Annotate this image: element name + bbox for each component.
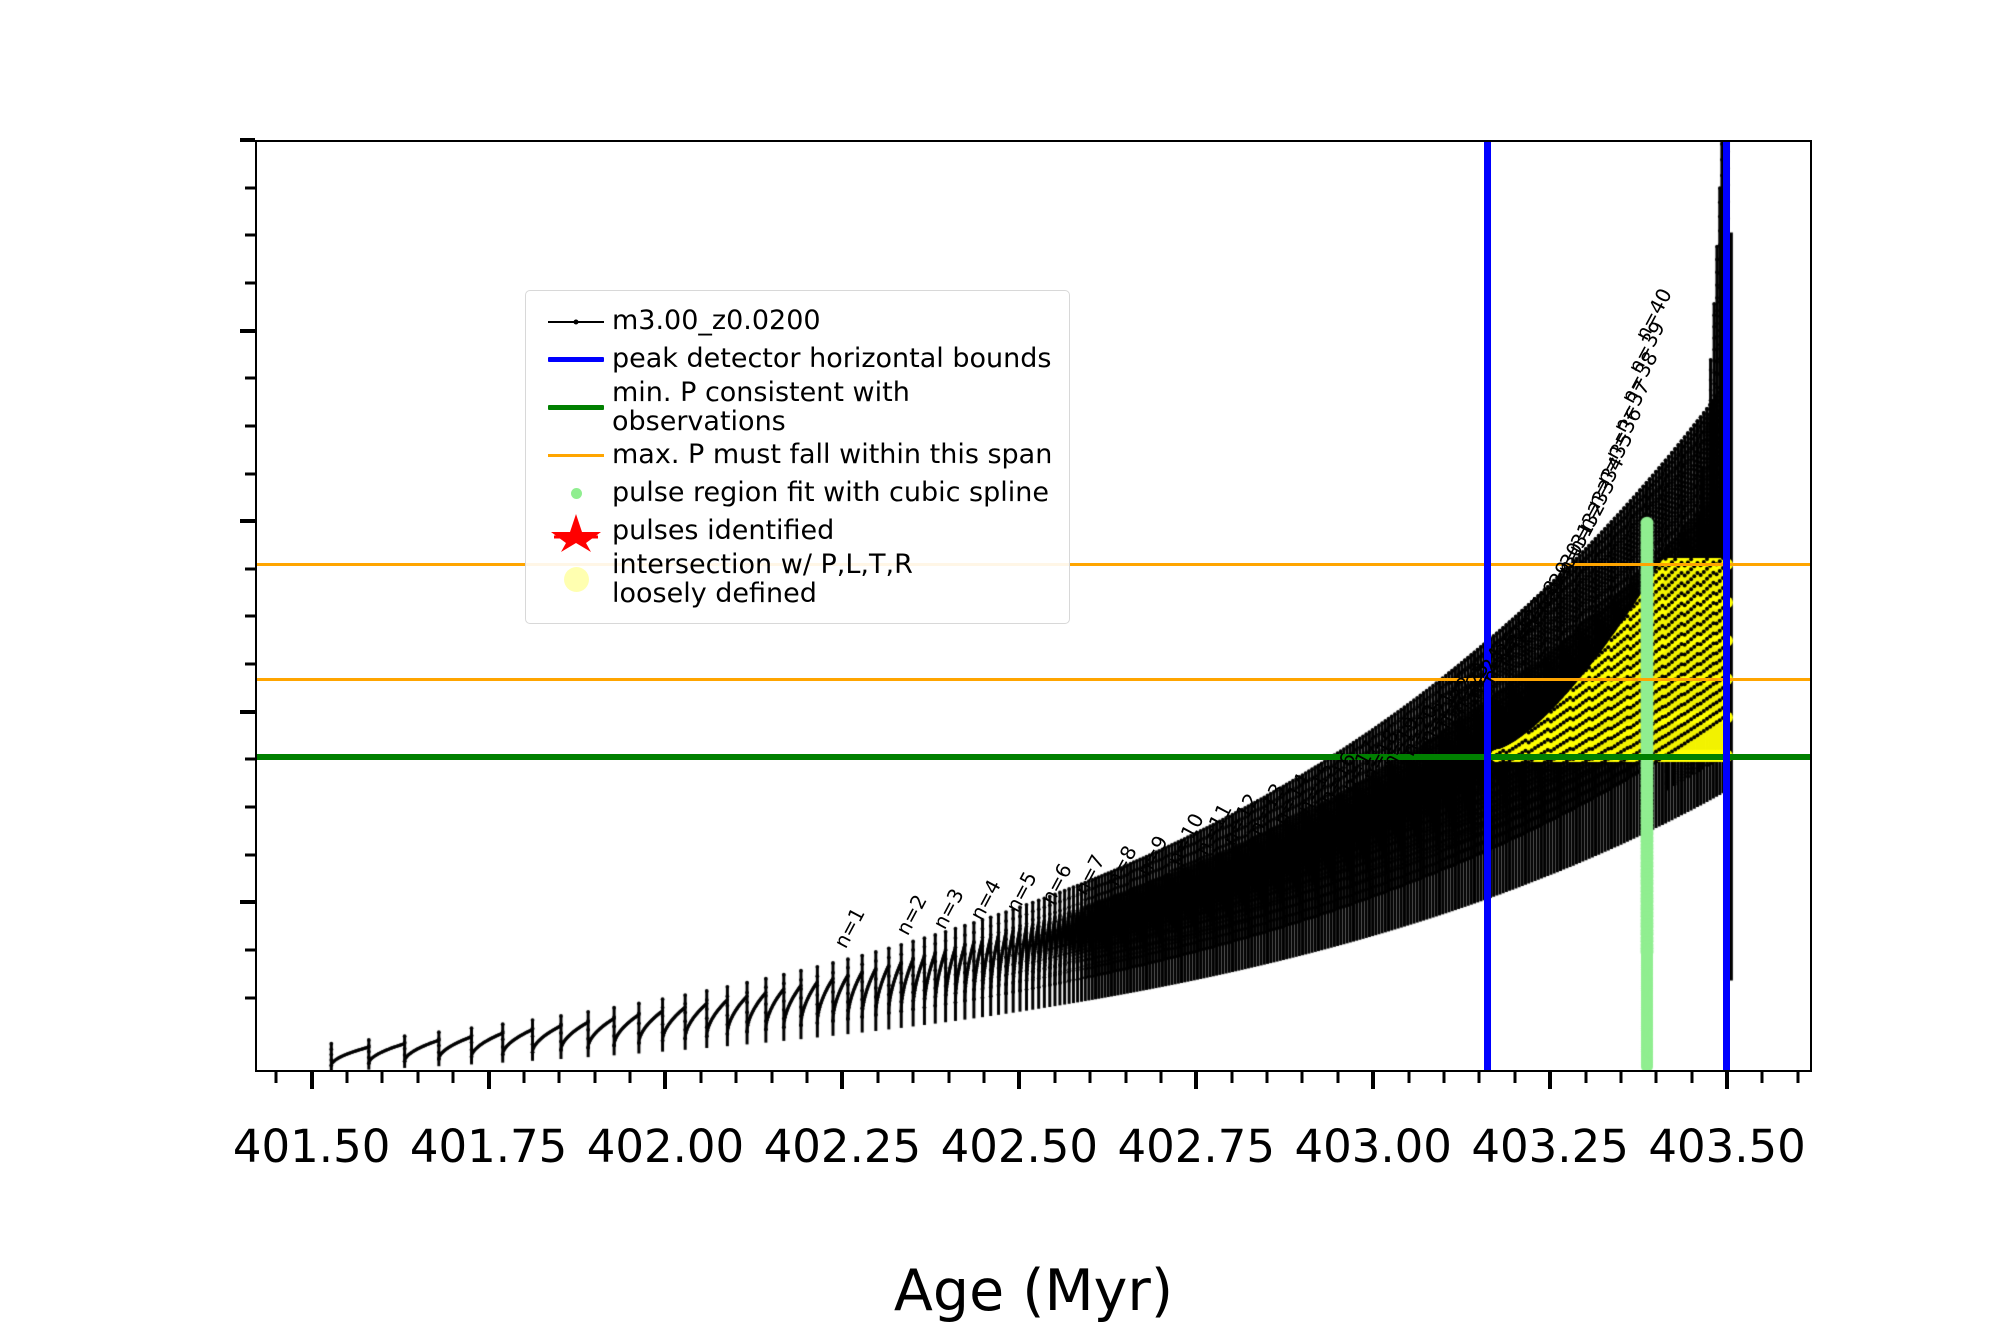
- legend-dot-swatch: [540, 475, 612, 512]
- x-tick-minor: [1159, 1072, 1162, 1083]
- y-tick-mark: [240, 519, 255, 523]
- legend-item-label: pulses identified: [612, 517, 834, 546]
- x-tick-mark: [1194, 1072, 1198, 1089]
- x-tick-minor: [1053, 1072, 1056, 1083]
- x-tick-mark: [487, 1072, 491, 1089]
- x-tick-minor: [912, 1072, 915, 1083]
- y-tick-minor: [245, 472, 255, 475]
- x-tick-minor: [1089, 1072, 1092, 1083]
- x-tick-minor: [593, 1072, 596, 1083]
- legend-line-swatch: [540, 341, 612, 378]
- x-tick-minor: [1266, 1072, 1269, 1083]
- x-tick-minor: [1478, 1072, 1481, 1083]
- x-axis: Age (Myr) 401.50401.75402.00402.25402.50…: [255, 1072, 1812, 1192]
- legend: m3.00_z0.0200peak detector horizontal bo…: [525, 290, 1070, 624]
- x-tick-minor: [699, 1072, 702, 1083]
- y-tick-minor: [245, 949, 255, 952]
- legend-item-label: pulse region fit with cubic spline: [612, 479, 1049, 508]
- legend-item-label: m3.00_z0.0200: [612, 307, 821, 336]
- y-tick-mark: [240, 138, 255, 142]
- x-tick-minor: [1584, 1072, 1587, 1083]
- peak-detector-bound-line: [1484, 142, 1491, 1070]
- x-tick-minor: [1655, 1072, 1658, 1083]
- legend-item[interactable]: min. P consistent with observations: [540, 379, 1055, 436]
- x-tick-minor: [1407, 1072, 1410, 1083]
- y-tick-minor: [245, 806, 255, 809]
- x-tick-label: 402.75: [1118, 1120, 1275, 1173]
- y-tick-minor: [245, 663, 255, 666]
- legend-line-marker-swatch: [540, 303, 612, 340]
- legend-item[interactable]: max. P must fall within this span: [540, 437, 1055, 474]
- x-tick-minor: [416, 1072, 419, 1083]
- y-tick-minor: [245, 234, 255, 237]
- y-tick-minor: [245, 281, 255, 284]
- x-tick-minor: [522, 1072, 525, 1083]
- x-tick-label: 401.75: [410, 1120, 567, 1173]
- x-tick-minor: [1513, 1072, 1516, 1083]
- x-axis-title: Age (Myr): [894, 1258, 1173, 1324]
- plot-area: n=1n=2n=3n=4n=5n=6n=7n=8n=9n=10n=11n=12n…: [255, 140, 1812, 1072]
- x-tick-minor: [381, 1072, 384, 1083]
- x-tick-minor: [1230, 1072, 1233, 1083]
- x-tick-label: 402.00: [587, 1120, 744, 1173]
- x-tick-minor: [735, 1072, 738, 1083]
- legend-item[interactable]: intersection w/ P,L,T,R loosely defined: [540, 551, 1055, 608]
- x-tick-minor: [558, 1072, 561, 1083]
- x-tick-label: 403.25: [1471, 1120, 1628, 1173]
- x-tick-minor: [346, 1072, 349, 1083]
- x-tick-mark: [663, 1072, 667, 1089]
- x-tick-minor: [1761, 1072, 1764, 1083]
- x-tick-label: 403.00: [1294, 1120, 1451, 1173]
- x-tick-minor: [1124, 1072, 1127, 1083]
- x-tick-mark: [1371, 1072, 1375, 1089]
- peak-detector-bound-line: [1723, 142, 1730, 1070]
- legend-item-label: intersection w/ P,L,T,R loosely defined: [612, 551, 913, 608]
- legend-star-swatch: [540, 513, 612, 550]
- x-tick-minor: [275, 1072, 278, 1083]
- legend-item-label: max. P must fall within this span: [612, 441, 1052, 470]
- y-tick-minor: [245, 377, 255, 380]
- legend-bigdot-swatch: [540, 561, 612, 598]
- legend-line-swatch: [540, 437, 612, 474]
- x-tick-label: 401.50: [233, 1120, 390, 1173]
- x-tick-minor: [1336, 1072, 1339, 1083]
- y-tick-minor: [245, 567, 255, 570]
- y-tick-minor: [245, 853, 255, 856]
- min-period-line: [257, 754, 1810, 760]
- x-tick-mark: [1017, 1072, 1021, 1089]
- x-tick-mark: [1725, 1072, 1729, 1089]
- legend-item[interactable]: m3.00_z0.0200: [540, 303, 1055, 340]
- x-tick-mark: [840, 1072, 844, 1089]
- x-tick-minor: [982, 1072, 985, 1083]
- x-tick-mark: [1548, 1072, 1552, 1089]
- max-period-span-line: [257, 678, 1810, 681]
- x-tick-minor: [452, 1072, 455, 1083]
- y-tick-minor: [245, 424, 255, 427]
- legend-item[interactable]: peak detector horizontal bounds: [540, 341, 1055, 378]
- x-tick-mark: [310, 1072, 314, 1089]
- legend-item[interactable]: pulses identified: [540, 513, 1055, 550]
- y-tick-mark: [240, 900, 255, 904]
- x-tick-minor: [806, 1072, 809, 1083]
- legend-item[interactable]: pulse region fit with cubic spline: [540, 475, 1055, 512]
- y-tick-mark: [240, 710, 255, 714]
- x-tick-minor: [1796, 1072, 1799, 1083]
- y-tick-minor: [245, 186, 255, 189]
- x-tick-minor: [1301, 1072, 1304, 1083]
- x-tick-label: 402.50: [941, 1120, 1098, 1173]
- y-tick-minor: [245, 758, 255, 761]
- x-tick-label: 402.25: [764, 1120, 921, 1173]
- x-tick-minor: [876, 1072, 879, 1083]
- y-tick-mark: [240, 329, 255, 333]
- y-tick-minor: [245, 996, 255, 999]
- figure-canvas: O1 period (days) n=1n=2n=3n=4n=5n=6n=7n=…: [0, 0, 2000, 1200]
- legend-item-label: peak detector horizontal bounds: [612, 345, 1051, 374]
- y-tick-minor: [245, 615, 255, 618]
- x-tick-minor: [1442, 1072, 1445, 1083]
- x-tick-minor: [770, 1072, 773, 1083]
- x-tick-minor: [1619, 1072, 1622, 1083]
- x-tick-minor: [629, 1072, 632, 1083]
- x-tick-minor: [947, 1072, 950, 1083]
- x-tick-minor: [1690, 1072, 1693, 1083]
- x-tick-label: 403.50: [1648, 1120, 1805, 1173]
- legend-line-swatch: [540, 389, 612, 426]
- legend-item-label: min. P consistent with observations: [612, 379, 1055, 436]
